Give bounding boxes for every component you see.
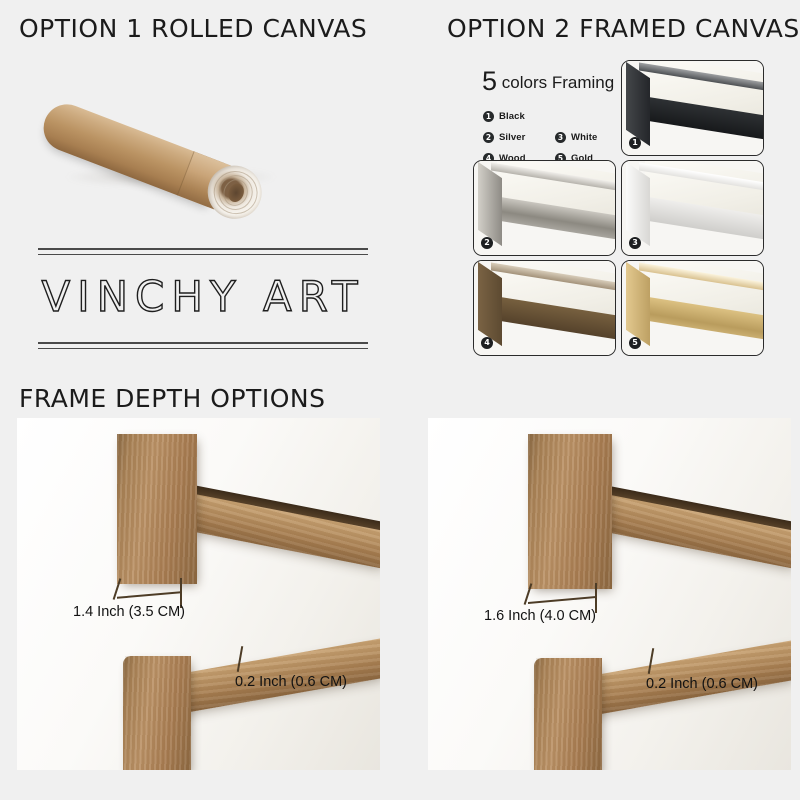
legend-row: 1 Black	[483, 106, 633, 127]
rolled-canvas-tube-icon	[18, 77, 285, 275]
depth-callout-frame-width: 0.2 Inch (0.6 CM)	[235, 674, 347, 690]
colors-framing-title: 5 colors Framing	[482, 66, 614, 97]
colors-title-rest: colors Framing	[497, 73, 614, 92]
frame-sample-card-gold[interactable]: 5	[621, 260, 764, 356]
logo-rule-bottom	[38, 342, 368, 344]
legend-item-black[interactable]: 1 Black	[483, 111, 555, 122]
option1-heading: OPTION 1 ROLLED CANVAS	[19, 14, 367, 43]
logo-rule-top	[38, 254, 368, 255]
legend-label-white: White	[571, 132, 597, 143]
frame-sample-card-wood[interactable]: 4	[473, 260, 616, 356]
depth-callout-frame-depth: 1.4 Inch (3.5 CM)	[73, 604, 185, 620]
frame-sample-number-2: 2	[481, 237, 493, 249]
frame-side-rail	[626, 162, 650, 246]
frame-sample-number-5: 5	[629, 337, 641, 349]
frame-sample-photo	[622, 261, 763, 355]
frame-vertical-stile	[117, 434, 197, 584]
frame-corner-block	[534, 658, 602, 770]
brand-logo: VINCHY ART	[38, 248, 368, 353]
colors-count: 5	[482, 66, 497, 96]
frame-sample-photo	[474, 161, 615, 255]
legend-item-silver[interactable]: 2 Silver	[483, 132, 555, 143]
frame-sample-number-3: 3	[629, 237, 641, 249]
wall-background	[17, 418, 380, 770]
frame-sample-photo	[474, 261, 615, 355]
framing-options-panel: 5 colors Framing 1 Black 2 Silver 3 Whit…	[470, 58, 770, 358]
depth-option-1-photo: 1.4 Inch (3.5 CM) 0.2 Inch (0.6 CM)	[17, 418, 380, 770]
frame-side-rail	[478, 262, 502, 346]
logo-rule-top	[38, 248, 368, 250]
depth-callout-frame-depth: 1.6 Inch (4.0 CM)	[484, 608, 596, 624]
depth-option-2-photo: 1.6 Inch (4.0 CM) 0.2 Inch (0.6 CM)	[428, 418, 791, 770]
frame-vertical-stile	[528, 434, 612, 589]
legend-label-black: Black	[499, 111, 525, 122]
rolled-canvas-image	[30, 55, 310, 210]
frame-side-rail	[478, 162, 502, 246]
frame-side-rail	[626, 262, 650, 346]
legend-row: 2 Silver 3 White	[483, 127, 633, 148]
frame-sample-card-white[interactable]: 3	[621, 160, 764, 256]
option2-heading: OPTION 2 FRAMED CANVAS	[447, 14, 800, 43]
frame-depth-heading: FRAME DEPTH OPTIONS	[19, 384, 325, 413]
legend-badge-2: 2	[483, 132, 494, 143]
frame-sample-card-silver[interactable]: 2	[473, 160, 616, 256]
frame-corner-block	[123, 656, 191, 770]
legend-badge-3: 3	[555, 132, 566, 143]
frame-sample-card-black[interactable]: 1	[621, 60, 764, 156]
frame-sample-photo	[622, 61, 763, 155]
frame-sample-number-1: 1	[629, 137, 641, 149]
brand-name: VINCHY ART	[38, 272, 368, 321]
frame-sample-number-4: 4	[481, 337, 493, 349]
logo-rule-bottom	[38, 348, 368, 349]
legend-label-silver: Silver	[499, 132, 525, 143]
frame-side-rail	[626, 62, 650, 146]
legend-badge-1: 1	[483, 111, 494, 122]
legend-item-white[interactable]: 3 White	[555, 132, 627, 143]
depth-callout-frame-width: 0.2 Inch (0.6 CM)	[646, 676, 758, 692]
frame-sample-photo	[622, 161, 763, 255]
